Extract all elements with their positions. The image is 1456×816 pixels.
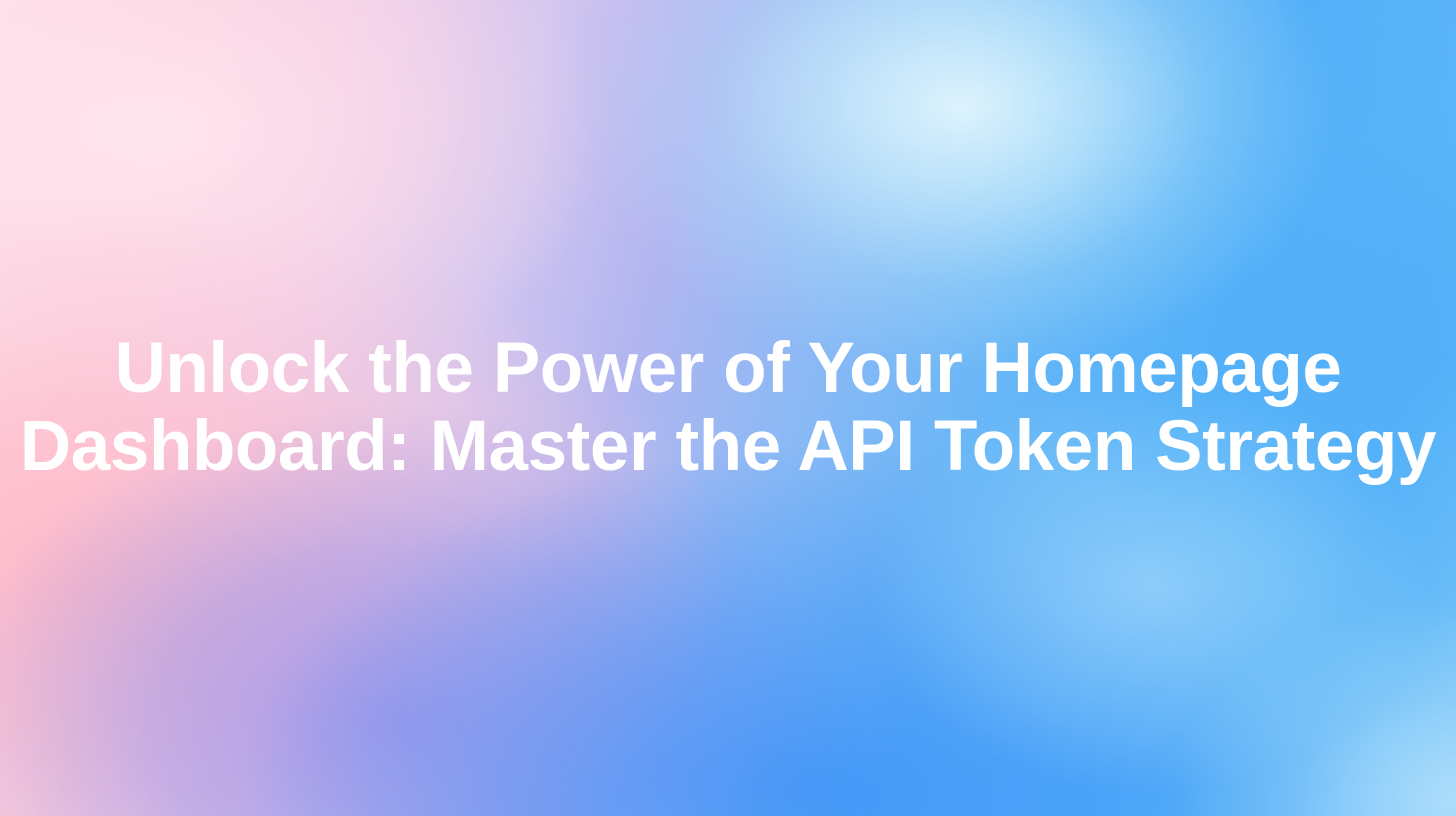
banner-title: Unlock the Power of Your Homepage Dashbo… xyxy=(0,330,1456,486)
headline-block: Unlock the Power of Your Homepage Dashbo… xyxy=(0,0,1456,816)
hero-banner: Unlock the Power of Your Homepage Dashbo… xyxy=(0,0,1456,816)
